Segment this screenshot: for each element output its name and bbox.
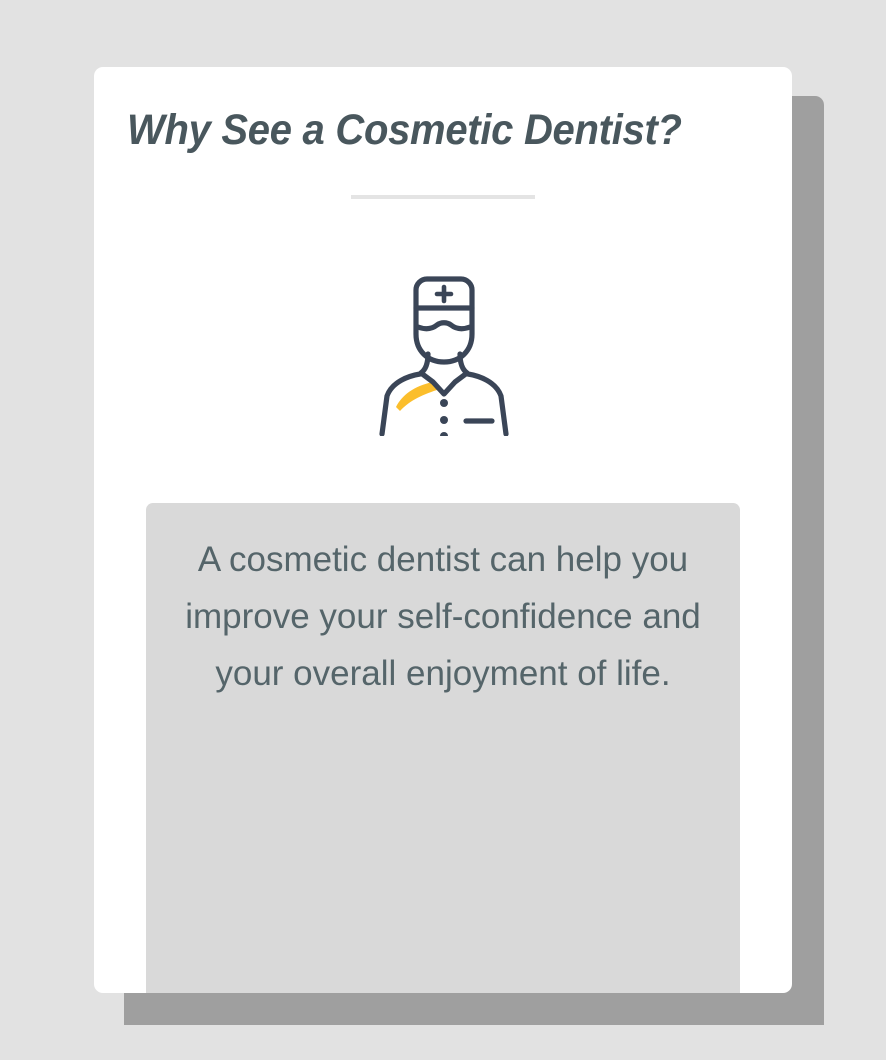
cosmetic-dentist-illustration (378, 272, 510, 436)
coat-buttons (440, 399, 448, 436)
page-title: Why See a Cosmetic Dentist? (127, 108, 722, 153)
content-card: Why See a Cosmetic Dentist? (94, 67, 792, 993)
coat-accent-shape (396, 382, 440, 411)
body-text: A cosmetic dentist can help you improve … (168, 531, 718, 702)
plus-icon (437, 287, 451, 301)
slide-root: Why See a Cosmetic Dentist? (0, 0, 886, 1060)
title-divider (351, 195, 535, 199)
body-text-panel: A cosmetic dentist can help you improve … (146, 503, 740, 993)
